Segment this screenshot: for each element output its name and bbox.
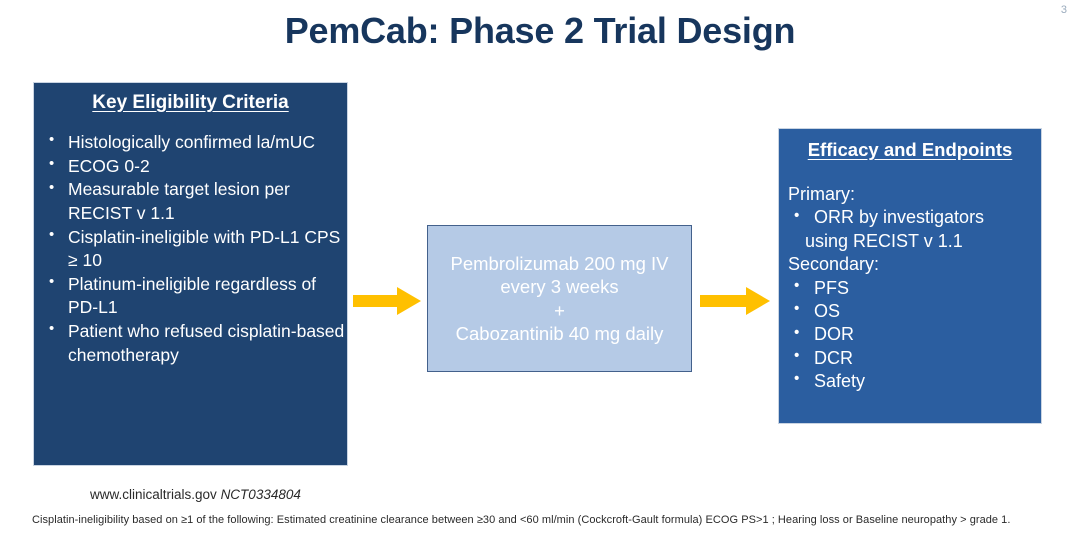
list-item: Patient who refused cisplatin-based chem… [40, 320, 347, 367]
endpoints-panel: Efficacy and Endpoints Primary: ORR by i… [778, 128, 1042, 424]
footnote-text: Cisplatin-ineligibility based on ≥1 of t… [32, 514, 1010, 526]
registry-site: www.clinicaltrials.gov [90, 487, 217, 502]
page-title: PemCab: Phase 2 Trial Design [0, 8, 1080, 53]
secondary-endpoints-label: Secondary: [779, 253, 1041, 276]
secondary-endpoints-list: PFS OS DOR DCR Safety [779, 277, 1041, 394]
list-item: Histologically confirmed la/mUC [40, 131, 347, 155]
treatment-plus-symbol: + [554, 299, 565, 322]
list-item: DCR [788, 347, 1041, 370]
list-item: Safety [788, 370, 1041, 393]
trial-registry-reference: www.clinicaltrials.gov NCT0334804 [90, 487, 301, 502]
list-item: ECOG 0-2 [40, 155, 347, 179]
treatment-line-2: every 3 weeks [500, 275, 618, 298]
treatment-line-1: Pembrolizumab 200 mg IV [451, 252, 669, 275]
list-item: DOR [788, 323, 1041, 346]
list-item: Cisplatin-ineligible with PD-L1 CPS ≥ 10 [40, 226, 347, 273]
primary-endpoints-label: Primary: [779, 183, 1041, 206]
eligibility-criteria-panel: Key Eligibility Criteria Histologically … [33, 82, 348, 466]
eligibility-heading: Key Eligibility Criteria [34, 92, 347, 114]
list-item: Measurable target lesion per RECIST v 1.… [40, 178, 347, 225]
primary-endpoints-list: ORR by investigators [779, 206, 1041, 229]
slide-canvas: 3 PemCab: Phase 2 Trial Design Key Eligi… [0, 0, 1080, 542]
registry-id: NCT0334804 [221, 487, 301, 502]
treatment-line-3: Cabozantinib 40 mg daily [456, 322, 664, 345]
treatment-regimen-panel: Pembrolizumab 200 mg IV every 3 weeks + … [427, 225, 692, 372]
primary-endpoint-line-2: using RECIST v 1.1 [779, 230, 1041, 253]
list-item: ORR by investigators [788, 206, 1041, 229]
primary-endpoint-line-1: ORR by investigators [814, 207, 984, 227]
arrow-right-icon [700, 285, 770, 317]
arrow-right-icon [353, 285, 421, 317]
endpoints-heading: Efficacy and Endpoints [779, 139, 1041, 161]
list-item: PFS [788, 277, 1041, 300]
list-item: Platinum-ineligible regardless of PD-L1 [40, 273, 347, 320]
eligibility-list: Histologically confirmed la/mUC ECOG 0-2… [34, 131, 347, 367]
list-item: OS [788, 300, 1041, 323]
